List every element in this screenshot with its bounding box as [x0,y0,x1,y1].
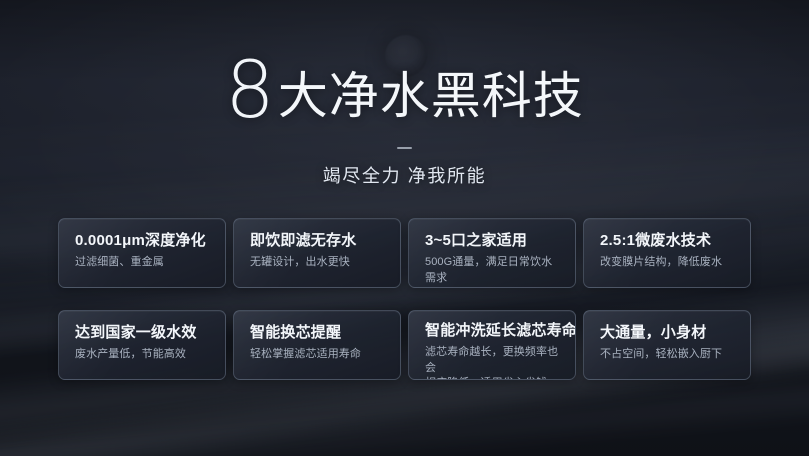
feature-title: 智能冲洗延长滤芯寿命 [425,322,559,339]
feature-description-line: 500G通量，满足日常饮水需求 [425,256,552,284]
feature-description-line: 废水产量低，节能高效 [75,348,186,360]
feature-card-5[interactable]: 达到国家一级水效 废水产量低，节能高效 [58,310,226,380]
feature-description: 无罐设计，出水更快 [250,255,384,271]
promo-banner: 8 大净水黑科技 竭尽全力 净我所能 0.0001μm深度净化 过滤细菌、重金属… [0,0,809,456]
feature-title: 达到国家一级水效 [75,324,209,341]
feature-title: 智能换芯提醒 [250,324,384,341]
feature-title: 即饮即滤无存水 [250,232,384,249]
feature-description: 轻松掌握滤芯适用寿命 [250,347,384,363]
page-subtitle: 竭尽全力 净我所能 [0,162,809,188]
feature-description-line: 不占空间，轻松嵌入厨下 [600,348,722,360]
feature-description: 改变膜片结构，降低废水 [600,255,734,271]
feature-card-7[interactable]: 智能冲洗延长滤芯寿命 滤芯寿命越长，更换频率也会 相应降低，适用省心省钱 [408,310,576,380]
feature-description-line: 滤芯寿命越长，更换频率也会 [425,346,558,374]
feature-description-line: 相应降低，适用省心省钱 [425,376,559,380]
feature-description-line: 改变膜片结构，降低废水 [600,256,722,268]
title-main-text: 大净水黑科技 [278,71,584,121]
feature-card-2[interactable]: 即饮即滤无存水 无罐设计，出水更快 [233,218,401,288]
feature-description-line: 无罐设计，出水更快 [250,256,350,268]
feature-description: 滤芯寿命越长，更换频率也会 相应降低，适用省心省钱 [425,345,559,380]
title-number: 8 [225,52,275,130]
feature-card-4[interactable]: 2.5:1微废水技术 改变膜片结构，降低废水 [583,218,751,288]
feature-title: 2.5:1微废水技术 [600,232,734,249]
page-title: 8 大净水黑科技 [0,48,809,126]
feature-description-line: 轻松掌握滤芯适用寿命 [250,348,361,360]
feature-title: 大通量，小身材 [600,324,734,341]
feature-card-3[interactable]: 3~5口之家适用 500G通量，满足日常饮水需求 [408,218,576,288]
feature-title: 0.0001μm深度净化 [75,232,209,249]
feature-title: 3~5口之家适用 [425,232,559,249]
feature-description: 废水产量低，节能高效 [75,347,209,363]
feature-description: 500G通量，满足日常饮水需求 [425,255,559,286]
feature-card-8[interactable]: 大通量，小身材 不占空间，轻松嵌入厨下 [583,310,751,380]
feature-description-line: 过滤细菌、重金属 [75,256,164,268]
feature-description: 过滤细菌、重金属 [75,255,209,271]
feature-card-6[interactable]: 智能换芯提醒 轻松掌握滤芯适用寿命 [233,310,401,380]
feature-description: 不占空间，轻松嵌入厨下 [600,347,734,363]
title-divider [397,147,412,149]
feature-card-grid: 0.0001μm深度净化 过滤细菌、重金属 即饮即滤无存水 无罐设计，出水更快 … [58,218,751,380]
banner-header: 8 大净水黑科技 竭尽全力 净我所能 [0,48,809,188]
feature-card-1[interactable]: 0.0001μm深度净化 过滤细菌、重金属 [58,218,226,288]
